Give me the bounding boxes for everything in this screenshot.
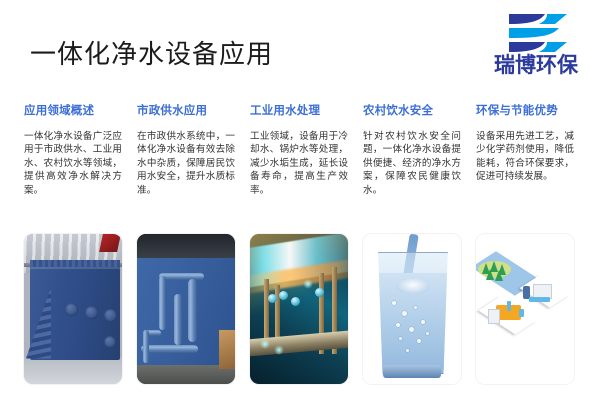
column-industrial-water: 工业用水处理 工业领域，设备用于冷却水、锅炉水等处理，减少水垢生成，延长设备寿命…: [250, 104, 348, 384]
column-body: 设备采用先进工艺，减少化学药剂使用，降低能耗，符合环保要求，促进可持续发展。: [476, 130, 574, 234]
content-columns: 应用领域概述 一体化净水设备广泛应用于市政供水、工业用水、农村饮水等领域，提供高…: [24, 104, 580, 384]
column-eco-energy-advantage: 环保与节能优势 设备采用先进工艺，减少化学药剂使用，降低能耗，符合环保要求，促进…: [476, 104, 574, 384]
blue-pipes-photo: [137, 234, 235, 384]
column-body: 工业领域，设备用于冷却水、锅炉水等处理，减少水垢生成，延长设备寿命，提高生产效率…: [250, 130, 348, 234]
wave-bars-logo-icon: [507, 12, 569, 54]
column-body: 针对农村饮水安全问题，一体化净水设备提供便捷、经济的净水方案，保障农民健康饮水。: [363, 130, 461, 234]
brand-logo: 瑞博环保: [480, 8, 592, 80]
page-title: 一体化净水设备应用: [30, 38, 273, 70]
column-body: 在市政供水系统中，一体化净水设备有效去除水中杂质，保障居民饮用水安全，提升水质标…: [137, 130, 235, 234]
column-heading: 应用领域概述: [24, 104, 122, 118]
column-heading: 工业用水处理: [250, 104, 348, 118]
column-body: 一体化净水设备广泛应用于市政供水、工业用水、农村饮水等领域，提供高效净水解决方案…: [24, 130, 122, 234]
column-heading: 环保与节能优势: [476, 104, 574, 118]
brand-name: 瑞博环保: [480, 54, 592, 78]
isometric-water-plant-illustration: [476, 234, 574, 384]
industrial-plant-interior-photo: [250, 234, 348, 384]
blue-water-treatment-tank-photo: [24, 234, 122, 384]
column-heading: 市政供水应用: [137, 104, 235, 118]
glass-of-water-photo: [363, 234, 461, 384]
column-municipal-supply: 市政供水应用 在市政供水系统中，一体化净水设备有效去除水中杂质，保障居民饮用水安…: [137, 104, 235, 384]
column-application-overview: 应用领域概述 一体化净水设备广泛应用于市政供水、工业用水、农村饮水等领域，提供高…: [24, 104, 122, 384]
column-rural-drinking-safety: 农村饮水安全 针对农村饮水安全问题，一体化净水设备提供便捷、经济的净水方案，保障…: [363, 104, 461, 384]
column-heading: 农村饮水安全: [363, 104, 461, 118]
